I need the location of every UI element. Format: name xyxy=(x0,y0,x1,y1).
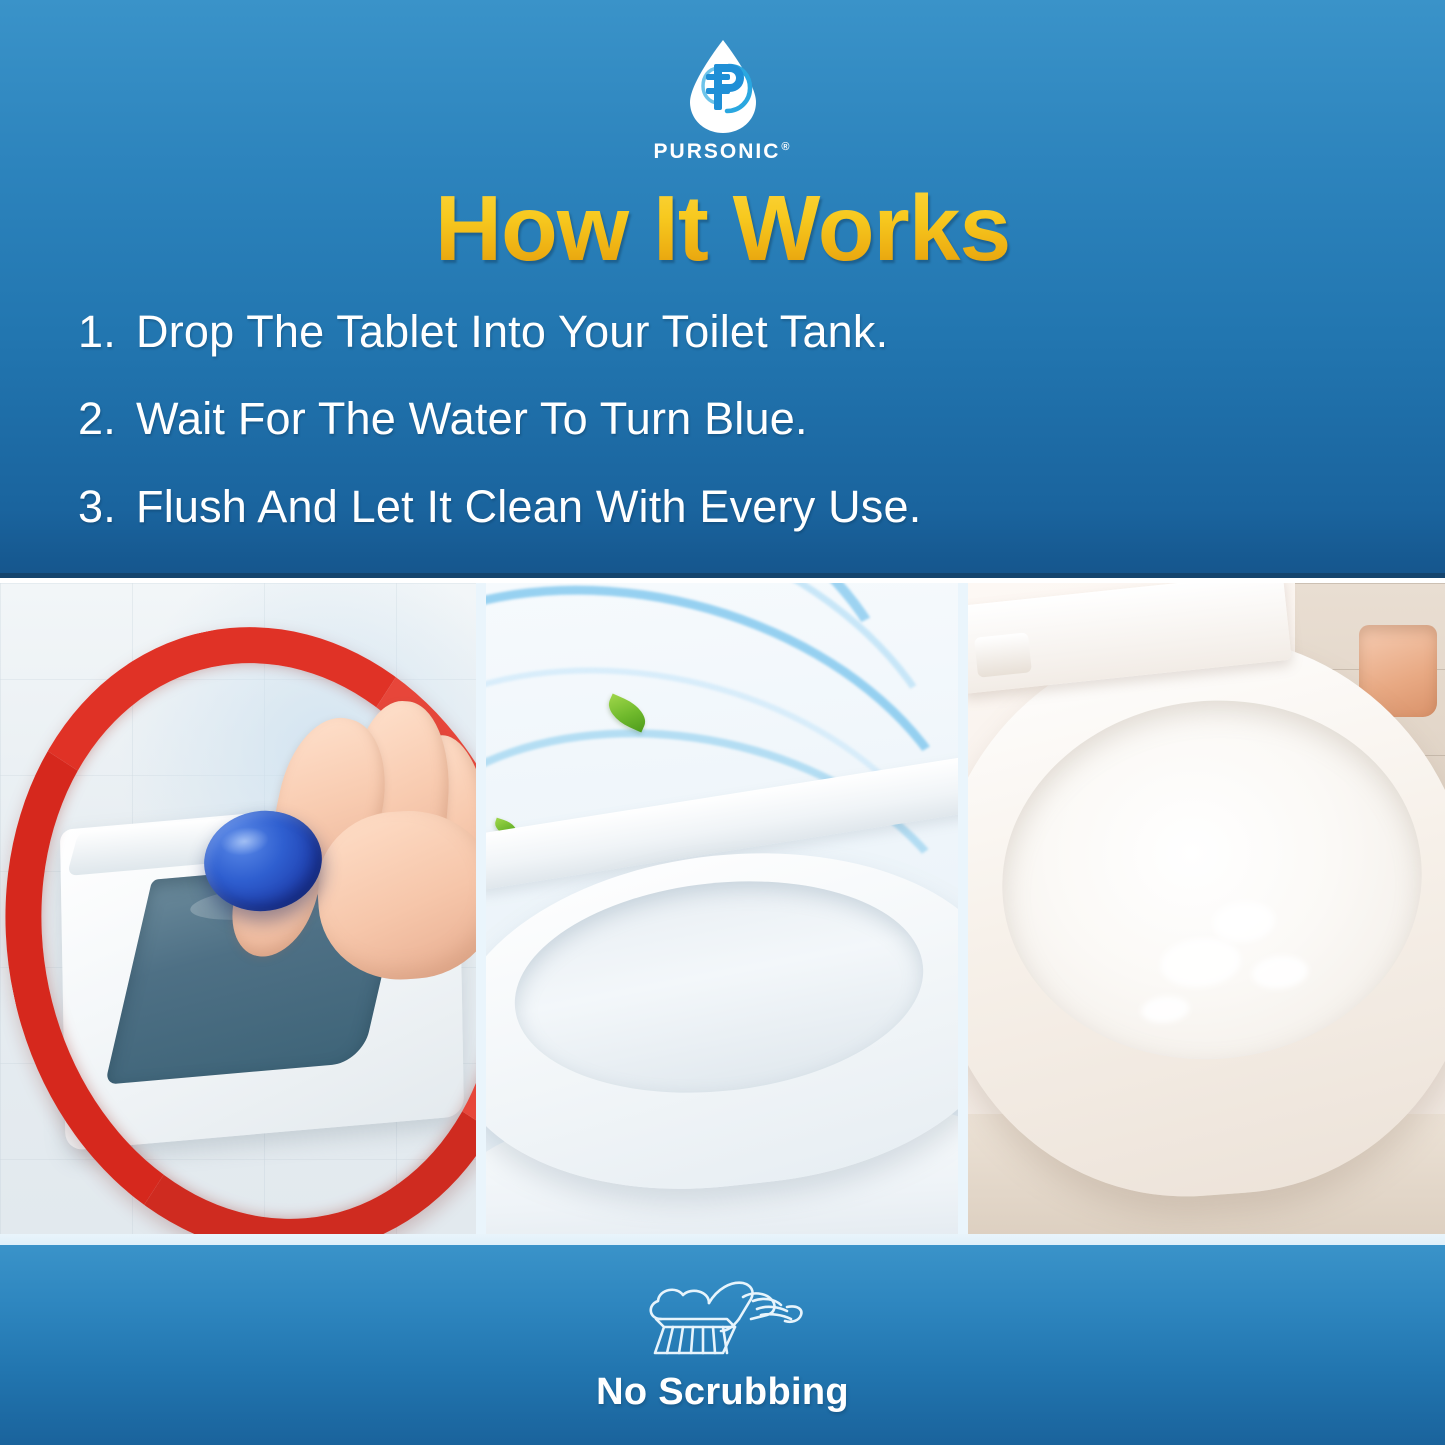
list-item: 2. Wait For The Water To Turn Blue. xyxy=(78,395,1368,442)
step-text: Drop The Tablet Into Your Toilet Tank. xyxy=(136,308,1368,355)
photo-hand-dropping-tablet-into-toilet-tank xyxy=(0,583,476,1234)
brand-wordmark: PURSONIC® xyxy=(654,141,792,162)
step-number: 2. xyxy=(78,395,136,442)
photo-toilet-with-fresh-scent-swirls xyxy=(486,583,958,1234)
list-item: 1. Drop The Tablet Into Your Toilet Tank… xyxy=(78,308,1368,355)
foam-bubble xyxy=(1211,899,1277,945)
foam-bubble xyxy=(1140,994,1190,1025)
page-title: How It Works xyxy=(0,181,1445,276)
foam-bubble xyxy=(1251,954,1310,992)
list-item: 3. Flush And Let It Clean With Every Use… xyxy=(78,483,1368,530)
panel-divider xyxy=(476,583,486,1234)
section-divider xyxy=(0,1234,1445,1245)
top-section: PURSONIC® How It Works 1. Drop The Table… xyxy=(0,0,1445,578)
how-it-works-infographic: PURSONIC® How It Works 1. Drop The Table… xyxy=(0,0,1445,1445)
scrub-brush-hand-icon xyxy=(639,1279,807,1361)
photo-strip xyxy=(0,583,1445,1234)
water-droplet-icon xyxy=(682,38,764,135)
foam-bubble xyxy=(1158,935,1243,991)
steps-list: 1. Drop The Tablet Into Your Toilet Tank… xyxy=(78,308,1368,570)
toilet-hinge xyxy=(974,632,1032,677)
step-text: Wait For The Water To Turn Blue. xyxy=(136,395,1368,442)
panel-divider xyxy=(958,583,968,1234)
footer-caption: No Scrubbing xyxy=(596,1373,849,1411)
registered-mark: ® xyxy=(781,142,791,153)
step-text: Flush And Let It Clean With Every Use. xyxy=(136,483,1368,530)
footer-section: No Scrubbing xyxy=(0,1245,1445,1445)
photo-toilet-bowl-filled-with-foam xyxy=(968,583,1445,1234)
brand-name: PURSONIC xyxy=(654,141,781,162)
step-number: 1. xyxy=(78,308,136,355)
brand-lockup: PURSONIC® xyxy=(0,38,1445,162)
step-number: 3. xyxy=(78,483,136,530)
